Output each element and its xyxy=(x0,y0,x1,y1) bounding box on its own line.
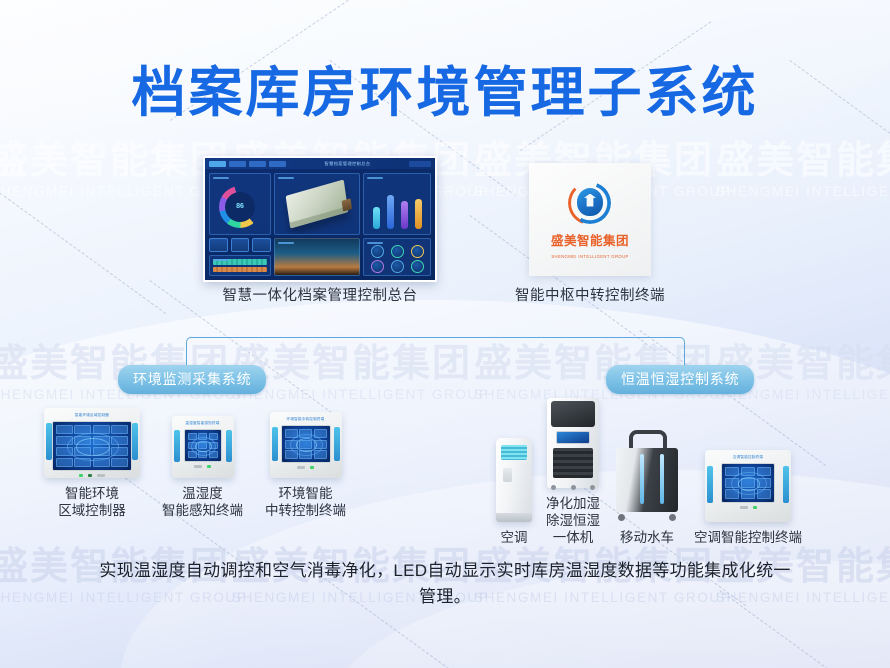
panel-side-accent xyxy=(174,430,180,462)
dashboard-status-icon xyxy=(411,245,424,258)
dashboard-status-icon xyxy=(391,260,404,273)
dashboard-center-column xyxy=(274,173,360,276)
hub-terminal-caption: 智能中枢中转控制终端 xyxy=(499,287,681,305)
panel-header-text: 环境智能中转控制终端 xyxy=(287,417,325,422)
panel-footer xyxy=(79,474,105,477)
cart-body xyxy=(616,448,678,512)
dashboard-screenshot: 智慧档案管理控制总台 86 xyxy=(203,156,437,282)
panel-header-text: 智能环境区域控制器 xyxy=(75,413,109,418)
watermark-text-en: SHENGMEI INTELLIGENT GROUP xyxy=(716,182,890,202)
dashboard-caption: 智慧一体化档案管理控制总台 xyxy=(203,287,437,305)
panel-side-accent xyxy=(334,427,340,461)
dashboard-bar xyxy=(401,201,408,229)
dashboard-mini-button xyxy=(231,238,250,252)
panel-footer xyxy=(194,465,211,468)
dashboard-bar xyxy=(373,207,380,229)
dashboard-left-column: 86 xyxy=(209,173,271,276)
device-env-relay-terminal: 环境智能中转控制终端 环境智能 中转控制终端 xyxy=(265,412,346,520)
panel-screen xyxy=(281,425,331,463)
dashboard-mini-button xyxy=(209,238,228,252)
device-label: 移动水车 xyxy=(620,530,674,547)
panel-knob xyxy=(194,465,202,468)
device-temp-humidity-sensor-image: 温湿度智能感知终端 xyxy=(172,416,234,478)
ac-base xyxy=(496,513,532,522)
purifier-grill xyxy=(553,448,593,478)
dashboard-status-icon xyxy=(391,245,404,258)
dashboard-model-card xyxy=(274,173,360,235)
device-air-conditioner-image xyxy=(496,438,532,522)
dashboard-tab xyxy=(229,161,246,167)
device-ac-control-terminal: 空调智能控制终端 空调智能控制终端 xyxy=(694,450,802,547)
purifier-hood xyxy=(551,401,595,427)
device-label: 空调 xyxy=(501,530,528,547)
power-led-icon xyxy=(207,465,211,468)
status-led-icon xyxy=(88,474,92,477)
bottom-description: 实现温湿度自动调控和空气消毒净化，LED自动显示实时库房温湿度数据等功能集成化统… xyxy=(95,558,795,611)
panel-footer xyxy=(740,506,757,509)
device-label: 净化加湿 除湿恒湿 一体机 xyxy=(546,496,600,547)
panel-knob xyxy=(97,474,105,477)
device-env-relay-terminal-image: 环境智能中转控制终端 xyxy=(270,412,342,478)
power-led-icon xyxy=(753,506,757,509)
dashboard-3d-model xyxy=(286,179,349,228)
panel-side-accent xyxy=(272,427,278,461)
company-logo-icon xyxy=(568,181,612,225)
device-ac-control-terminal-image: 空调智能控制终端 xyxy=(705,450,791,522)
dashboard-bar xyxy=(415,199,422,229)
panel-device: 环境智能中转控制终端 xyxy=(270,412,342,478)
dashboard-body: 86 xyxy=(205,169,435,280)
device-label: 温湿度 智能感知终端 xyxy=(162,486,243,520)
device-group-climate: 空调 净化加湿 除湿恒湿 一体机 移动水车 xyxy=(496,398,860,547)
device-mobile-water-cart: 移动水车 xyxy=(614,430,680,547)
device-label: 环境智能 中转控制终端 xyxy=(265,486,346,520)
dashboard-logo xyxy=(409,161,431,167)
dashboard-topbar: 智慧档案管理控制总台 xyxy=(205,158,435,169)
panel-footer xyxy=(297,466,314,469)
panel-knob xyxy=(740,506,748,509)
logo-core xyxy=(577,188,603,216)
panel-side-accent xyxy=(783,466,789,503)
page-title: 档案库房环境管理子系统 xyxy=(0,48,890,127)
hub-logo-text-en: SHENGMEI INTELLIGENT GROUP xyxy=(551,254,628,259)
device-area-controller-image: 智能环境区域控制器 xyxy=(44,408,140,478)
panel-screen-grid xyxy=(56,425,128,467)
dashboard-video-card xyxy=(274,238,360,276)
dashboard-trend-card xyxy=(209,255,271,276)
dashboard-right-column xyxy=(363,173,431,276)
panel-screen-grid xyxy=(725,467,771,499)
panel-side-accent xyxy=(226,430,232,462)
panel-screen xyxy=(52,421,132,471)
hub-terminal-image: 盛美智能集团 SHENGMEI INTELLIGENT GROUP xyxy=(529,163,651,276)
dashboard-tab xyxy=(269,161,286,167)
panel-screen-grid xyxy=(285,429,327,459)
dashboard-trend-band xyxy=(213,267,267,273)
device-purifier-humidifier-image xyxy=(547,398,599,488)
dashboard-bar xyxy=(387,195,394,229)
purifier-wheels xyxy=(551,485,595,491)
watermark-text-cn: 盛美智能集团 xyxy=(716,142,890,182)
ac-vent xyxy=(501,445,527,460)
cart-uv-lamp xyxy=(640,454,644,504)
panel-header-text: 温湿度智能感知终端 xyxy=(185,421,219,426)
ac-panel-slot xyxy=(503,468,512,482)
hub-logo-text-cn: 盛美智能集团 xyxy=(551,230,629,249)
watermark-tile: 盛美智能集团SHENGMEI INTELLIGENT GROUP xyxy=(716,142,890,202)
dashboard-trend-band xyxy=(213,259,267,265)
power-led-icon xyxy=(310,466,314,469)
device-area-controller: 智能环境区域控制器 智能环境 区域控制器 xyxy=(44,408,140,520)
device-air-conditioner: 空调 xyxy=(496,438,532,547)
panel-device: 智能环境区域控制器 xyxy=(44,408,140,478)
panel-side-accent xyxy=(132,423,138,459)
dashboard-tab xyxy=(249,161,266,167)
panel-screen xyxy=(184,429,222,462)
watermark-text-en: SHENGMEI INTELLIGENT GROUP xyxy=(232,385,489,405)
purifier-cabinet xyxy=(547,398,599,488)
device-temp-humidity-sensor: 温湿度智能感知终端 温湿度 智能感知终端 xyxy=(162,416,243,520)
device-purifier-humidifier: 净化加湿 除湿恒湿 一体机 xyxy=(546,398,600,547)
panel-header-text: 空调智能控制终端 xyxy=(733,455,763,460)
panel-device: 温湿度智能感知终端 xyxy=(172,416,234,478)
panel-screen-grid xyxy=(188,433,218,458)
device-label: 空调智能控制终端 xyxy=(694,530,802,547)
purifier-display xyxy=(556,431,590,444)
dashboard-gauge-card: 86 xyxy=(209,173,271,235)
dashboard-status-icon xyxy=(371,260,384,273)
panel-screen xyxy=(721,463,775,503)
dashboard-status-icon xyxy=(371,245,384,258)
air-conditioner-unit xyxy=(496,438,532,522)
panel-device: 空调智能控制终端 xyxy=(705,450,791,522)
device-label: 智能环境 区域控制器 xyxy=(58,486,126,520)
dashboard-mini-button xyxy=(252,238,271,252)
group-badge-monitoring: 环境监测采集系统 xyxy=(118,365,266,394)
dashboard-status-icon xyxy=(411,260,424,273)
dashboard-icons-card xyxy=(363,238,431,276)
panel-knob xyxy=(297,466,305,469)
device-group-monitoring: 智能环境区域控制器 智能环境 区域控制器 xyxy=(44,408,354,520)
device-mobile-water-cart-image xyxy=(614,430,680,522)
dashboard-mini-buttons xyxy=(209,238,271,252)
panel-side-accent xyxy=(707,466,713,503)
mobile-cart xyxy=(614,430,680,522)
dashboard-gauge-value: 86 xyxy=(219,186,261,228)
cart-uv-lamp xyxy=(660,454,664,504)
dashboard-screen-title: 智慧档案管理控制总台 xyxy=(289,161,406,167)
dashboard-gauge: 86 xyxy=(219,186,261,228)
power-led-icon xyxy=(79,474,83,477)
cart-wheels xyxy=(618,514,676,522)
group-badge-climate: 恒温恒湿控制系统 xyxy=(606,365,754,394)
dashboard-tab-active xyxy=(209,161,226,167)
dashboard-bars-card xyxy=(363,173,431,235)
